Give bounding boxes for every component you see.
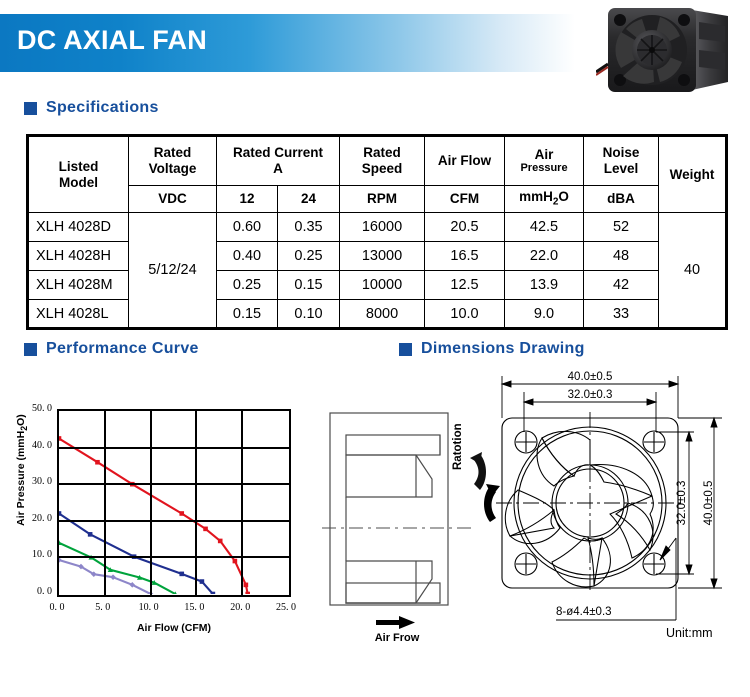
table-row: XLH 4028D 5/12/24 0.60 0.35 16000 20.5 4… [28,213,727,242]
cell-current-12v: 0.60 [217,213,278,242]
col-header-rated-current: Rated Current A [217,136,340,186]
cell-rated-voltage: 5/12/24 [129,213,217,329]
unit-airflow: CFM [425,186,505,213]
gridline-horizontal [59,447,289,449]
cell-air-pressure: 42.5 [505,213,584,242]
gridline-horizontal [59,483,289,485]
data-point [203,527,208,532]
dimension-drawing-side-view [322,395,472,640]
col-header-listed-model: Listed Model [28,136,129,213]
cell-model: XLH 4028D [28,213,129,242]
cell-air-flow: 10.0 [425,300,505,329]
col-header-weight: Weight [659,136,727,213]
rotation-arrow-icon-side [466,450,488,494]
cell-current-24v: 0.15 [278,271,340,300]
gridline-vertical [150,411,152,595]
y-axis-tick-label: 20. 0 [0,513,52,524]
gridline-horizontal [59,556,289,558]
data-point [59,540,62,545]
section-header-dimensions-drawing: Dimensions Drawing [399,340,585,358]
specifications-table: Listed Model Rated Voltage Rated Current… [26,134,728,330]
cell-noise: 42 [584,271,659,300]
dim-overall-height: 40.0±0.5 [703,481,715,526]
chart-series-xlh-4028l [59,557,153,594]
col-header-air-flow: Air Flow [425,136,505,186]
x-axis-tick-label: 0. 0 [34,602,80,613]
cell-noise: 33 [584,300,659,329]
data-point [200,579,205,584]
cell-current-12v: 0.25 [217,271,278,300]
table-header-row-1: Listed Model Rated Voltage Rated Current… [28,136,727,186]
cell-air-pressure: 9.0 [505,300,584,329]
data-point [211,592,216,594]
section-title-specifications: Specifications [46,99,159,117]
cell-model: XLH 4028L [28,300,129,329]
unit-current-12v: 12 [217,186,278,213]
arrow-right-icon [374,616,416,629]
cell-weight: 40 [659,213,727,329]
square-bullet-icon [399,343,412,356]
unit-note: Unit:mm [666,626,713,640]
y-axis-tick-label: 0. 0 [0,586,52,597]
unit-speed: RPM [340,186,425,213]
data-point [245,592,250,594]
cell-rated-speed: 16000 [340,213,425,242]
cell-air-pressure: 13.9 [505,271,584,300]
data-point [59,511,61,516]
cell-current-12v: 0.15 [217,300,278,329]
dimension-drawing-front-view: 40.0±0.5 32.0±0.3 32.0±0.3 40.0±0.5 [480,362,748,642]
cell-model: XLH 4028H [28,242,129,271]
y-axis-tick-label: 50. 0 [0,403,52,414]
product-photo-dc-axial-fan [596,2,744,98]
y-axis-tick-label: 40. 0 [0,440,52,451]
cell-rated-speed: 10000 [340,271,425,300]
section-header-specifications: Specifications [24,99,159,117]
gridline-vertical [195,411,197,595]
col-header-noise-level: Noise Level [584,136,659,186]
chart-x-axis-label: Air Flow (CFM) [57,622,291,634]
cell-air-flow: 12.5 [425,271,505,300]
cell-model: XLH 4028M [28,271,129,300]
x-axis-tick-label: 5. 0 [80,602,126,613]
dim-overall-width: 40.0±0.5 [568,371,613,383]
x-axis-tick-label: 10. 0 [126,602,172,613]
cell-noise: 48 [584,242,659,271]
section-title-dimensions-drawing: Dimensions Drawing [421,340,585,358]
performance-curve-chart: Air Pressure (mmH2O) Air Flow (CFM) 0. 0… [0,383,320,643]
dim-hole-spec: 8-ø4.4±0.3 [556,606,612,618]
section-header-performance-curve: Performance Curve [24,340,199,358]
cell-rated-speed: 13000 [340,242,425,271]
data-point [244,583,249,588]
data-point [179,511,184,516]
cell-rated-speed: 8000 [340,300,425,329]
x-axis-tick-label: 20. 0 [217,602,263,613]
data-point [95,460,100,465]
airflow-label-text: Air Frow [322,632,472,644]
table-header-row-2-units: VDC 12 24 RPM CFM mmH2O dBA [28,186,727,213]
cell-air-flow: 20.5 [425,213,505,242]
unit-current-24v: 24 [278,186,340,213]
rotation-direction-label: Ratotion [452,423,464,470]
cell-current-24v: 0.10 [278,300,340,329]
airflow-direction-label: Air Frow [322,616,472,644]
y-axis-tick-label: 10. 0 [0,549,52,560]
data-point [88,532,93,537]
cell-noise: 52 [584,213,659,242]
square-bullet-icon [24,343,37,356]
chart-plot-area [57,409,291,597]
unit-voltage: VDC [129,186,217,213]
x-axis-tick-label: 25. 0 [263,602,309,613]
cell-current-24v: 0.35 [278,213,340,242]
cell-air-flow: 16.5 [425,242,505,271]
page-title: DC AXIAL FAN [17,25,207,56]
col-header-rated-voltage: Rated Voltage [129,136,217,186]
cell-air-pressure: 22.0 [505,242,584,271]
cell-current-24v: 0.25 [278,242,340,271]
gridline-vertical [241,411,243,595]
square-bullet-icon [24,102,37,115]
chart-curves [59,411,288,594]
data-point [233,559,238,564]
y-axis-tick-label: 30. 0 [0,476,52,487]
data-point [110,574,116,580]
gridline-vertical [104,411,106,595]
data-point [59,436,61,441]
col-header-rated-speed: Rated Speed [340,136,425,186]
col-header-air-pressure: Air Pressure [505,136,584,186]
unit-noise: dBA [584,186,659,213]
x-axis-tick-label: 15. 0 [171,602,217,613]
cell-current-12v: 0.40 [217,242,278,271]
data-point [179,572,184,577]
data-point [218,539,223,544]
gridline-horizontal [59,520,289,522]
dim-hole-pitch-width: 32.0±0.3 [568,389,613,401]
unit-air-pressure: mmH2O [505,186,584,213]
section-title-performance-curve: Performance Curve [46,340,199,358]
